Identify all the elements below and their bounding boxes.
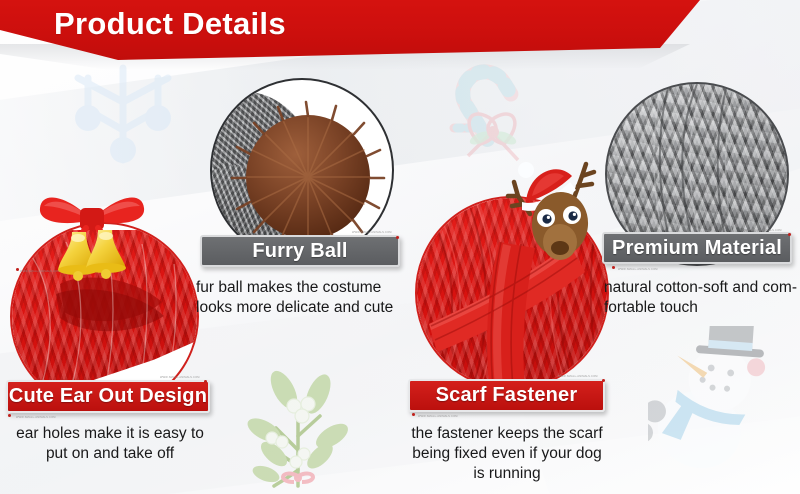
- bells-with-bow-icon: [28, 186, 156, 282]
- label-furry-ball-text: Furry Ball: [252, 240, 347, 263]
- watermark-material-bottom: WWW.SMALL-ANIMALS.COM: [618, 268, 658, 271]
- description-premium-material: natural cotton-soft and com- fortable to…: [604, 278, 800, 318]
- watermark-dot-5: [204, 380, 207, 383]
- watermark-dot-1: [396, 236, 399, 239]
- watermark-scarf-top: WWW.SMALL-ANIMALS.COM: [558, 375, 598, 378]
- watermark-furry-top: WWW.SMALL-ANIMALS.COM: [352, 231, 392, 234]
- label-furry-ball[interactable]: Furry Ball: [200, 235, 400, 267]
- label-cute-ear-out-design-text: Cute Ear Out Design: [9, 385, 207, 408]
- watermark-material-top: WWW.SMALL-ANIMALS.COM: [742, 229, 782, 232]
- label-scarf-fastener[interactable]: Scarf Fastener: [408, 379, 605, 412]
- watermark-ear-top: WWW.SMALL-ANIMALS.COM: [160, 376, 200, 379]
- watermark-ear-bottom: WWW.SMALL-ANIMALS.COM: [16, 416, 56, 419]
- watermark-dot-3: [788, 233, 791, 236]
- page-title: Product Details: [54, 6, 286, 42]
- watermark-dot-6: [8, 414, 11, 417]
- label-cute-ear-out-design[interactable]: Cute Ear Out Design: [6, 380, 210, 413]
- reindeer-with-santa-hat-icon: [498, 158, 610, 274]
- label-premium-material[interactable]: Premium Material: [602, 232, 792, 264]
- watermark-dot-8: [412, 413, 415, 416]
- description-furry-ball: fur ball makes the costume looks more de…: [196, 278, 408, 318]
- watermark-dot-2: [16, 268, 19, 271]
- watermark-dot-7: [602, 379, 605, 382]
- product-details-infographic: Product Details: [0, 0, 800, 494]
- description-scarf-fastener: the fastener keeps the scarf being fixed…: [400, 424, 614, 484]
- description-cute-ear-out-design: ear holes make it is easy to put on and …: [6, 424, 214, 464]
- label-premium-material-text: Premium Material: [612, 237, 782, 260]
- label-scarf-fastener-text: Scarf Fastener: [436, 384, 578, 407]
- watermark-scarf-bottom: WWW.SMALL-ANIMALS.COM: [418, 415, 458, 418]
- watermark-furry-bottom: WWW.SMALL-ANIMALS.COM: [20, 270, 60, 273]
- watermark-dot-4: [612, 266, 615, 269]
